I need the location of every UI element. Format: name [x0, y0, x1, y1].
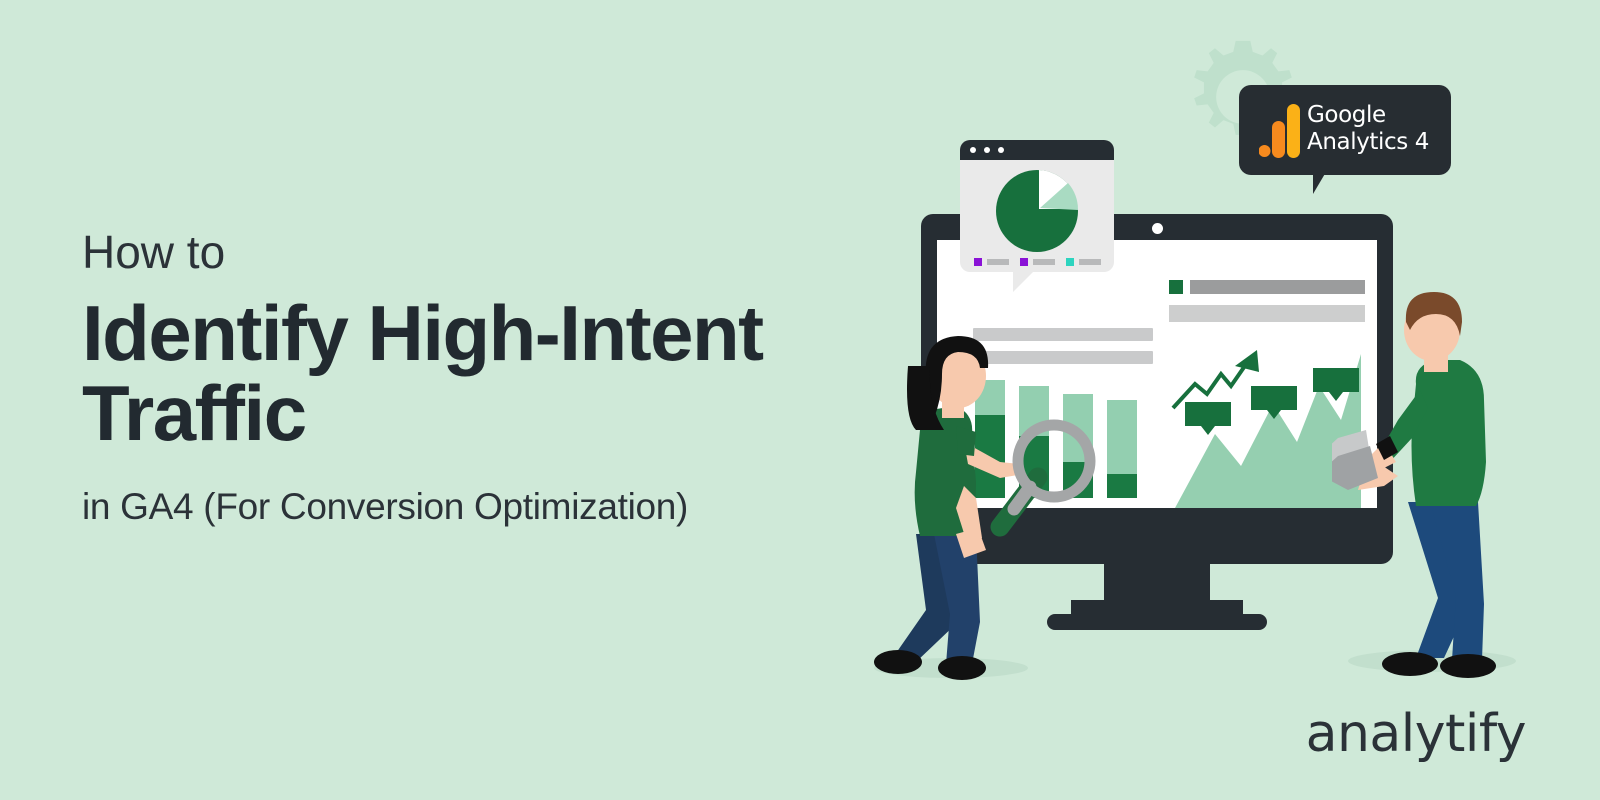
legend-label-bar	[1079, 259, 1101, 265]
brand-logo: analytify	[1306, 704, 1526, 764]
monitor-base	[1047, 614, 1267, 630]
legend-label-bar	[987, 259, 1009, 265]
page-title: Identify High-Intent Traffic	[82, 294, 882, 453]
pie-chart-popup	[960, 140, 1114, 272]
ga4-badge: Google Analytics 4	[1239, 85, 1451, 175]
pie-legend	[974, 258, 1101, 266]
headline-block: How to Identify High-Intent Traffic in G…	[82, 228, 882, 528]
window-dot	[998, 147, 1004, 153]
chart-tooltip	[1251, 386, 1297, 410]
window-dot	[970, 147, 976, 153]
bar-column	[1107, 400, 1137, 498]
legend-swatch	[1169, 280, 1183, 294]
webcam-dot	[1152, 223, 1163, 234]
ga4-label: Google Analytics 4	[1307, 102, 1429, 156]
magnifying-glass-icon	[990, 415, 1110, 545]
chart-tooltip	[1185, 402, 1231, 426]
popup-tail	[1013, 270, 1035, 292]
window-dot	[984, 147, 990, 153]
pie-chart	[994, 168, 1080, 254]
legend-swatch	[1066, 258, 1074, 266]
legend-label-bar	[1033, 259, 1055, 265]
man-figure	[1332, 286, 1522, 686]
popup-titlebar	[960, 140, 1114, 160]
google-analytics-icon	[1259, 104, 1301, 158]
subtitle-text: in GA4 (For Conversion Optimization)	[82, 487, 882, 528]
ga4-badge-tail	[1313, 172, 1339, 194]
legend-swatch	[1020, 258, 1028, 266]
poster-canvas: How to Identify High-Intent Traffic in G…	[0, 0, 1600, 800]
kicker-text: How to	[82, 228, 882, 276]
legend-swatch	[974, 258, 982, 266]
